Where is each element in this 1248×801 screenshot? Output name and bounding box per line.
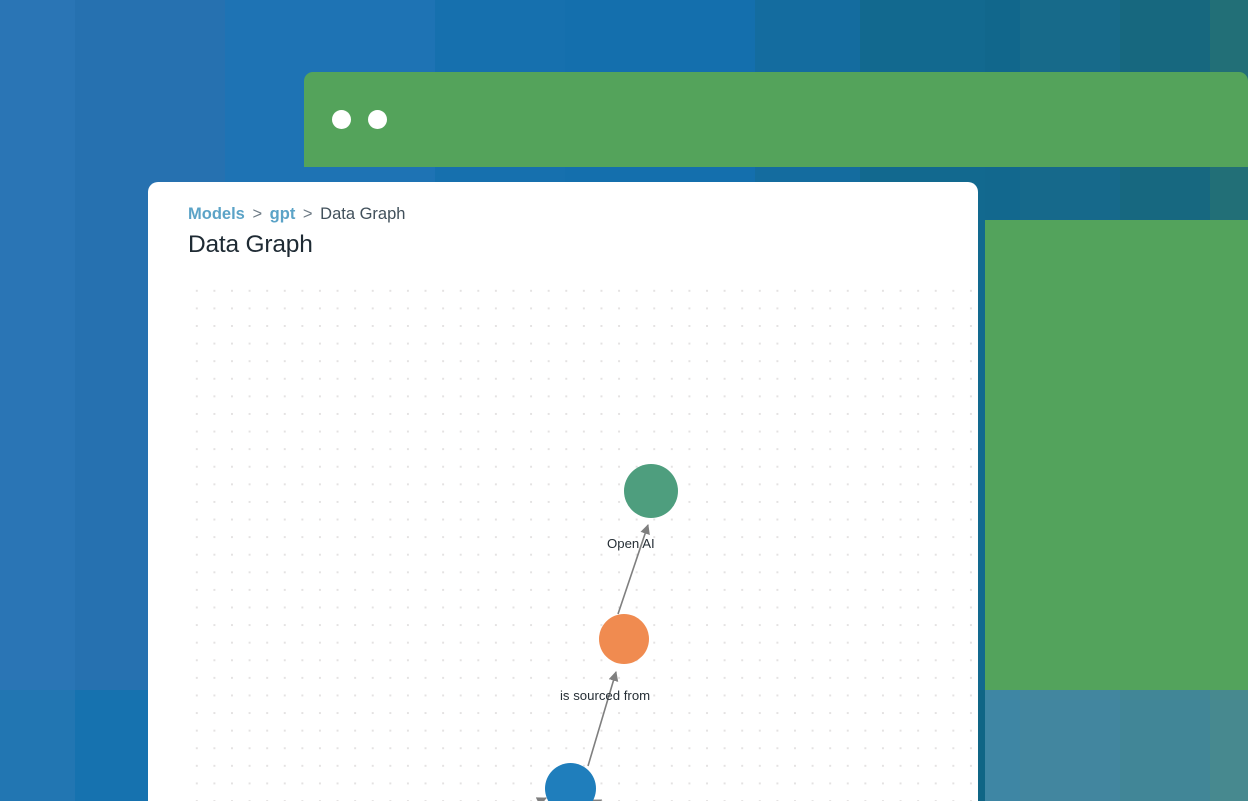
graph-node-open-ai[interactable] [624, 464, 678, 518]
breadcrumb-item-gpt[interactable]: gpt [270, 205, 296, 223]
background-tile [1120, 690, 1210, 801]
background-tile [1020, 160, 1120, 220]
background-tile [985, 160, 1020, 220]
content-panel: Models > gpt > Data Graph Data Graph Ope… [148, 182, 978, 801]
graph-canvas[interactable]: Open AIis sourced fromgptsourced fromCus… [188, 280, 978, 801]
page-title: Data Graph [188, 230, 313, 260]
background-tile [1210, 690, 1248, 801]
browser-window-chrome [304, 72, 1248, 167]
breadcrumb-item-models[interactable]: Models [188, 205, 245, 223]
breadcrumb-separator-1: > [249, 205, 265, 223]
breadcrumb: Models > gpt > Data Graph [188, 204, 405, 224]
window-minimize-dot[interactable] [368, 110, 387, 129]
background-tile [985, 690, 1020, 801]
breadcrumb-separator-2: > [300, 205, 316, 223]
graph-node-label-open-ai: Open AI [607, 536, 655, 552]
background-tile [1210, 160, 1248, 220]
background-tile [0, 690, 75, 801]
background-tile [985, 220, 1248, 690]
background-tile [1020, 690, 1120, 801]
graph-edge[interactable] [588, 672, 616, 766]
graph-node-is-sourced-from-entity[interactable] [599, 614, 649, 664]
graph-edge-label-is-sourced-from-entity: is sourced from [560, 688, 650, 704]
background-tile [0, 0, 75, 690]
background-tile [1120, 160, 1210, 220]
window-close-dot[interactable] [332, 110, 351, 129]
breadcrumb-item-data-graph: Data Graph [320, 205, 405, 223]
graph-edge-layer [188, 280, 978, 801]
